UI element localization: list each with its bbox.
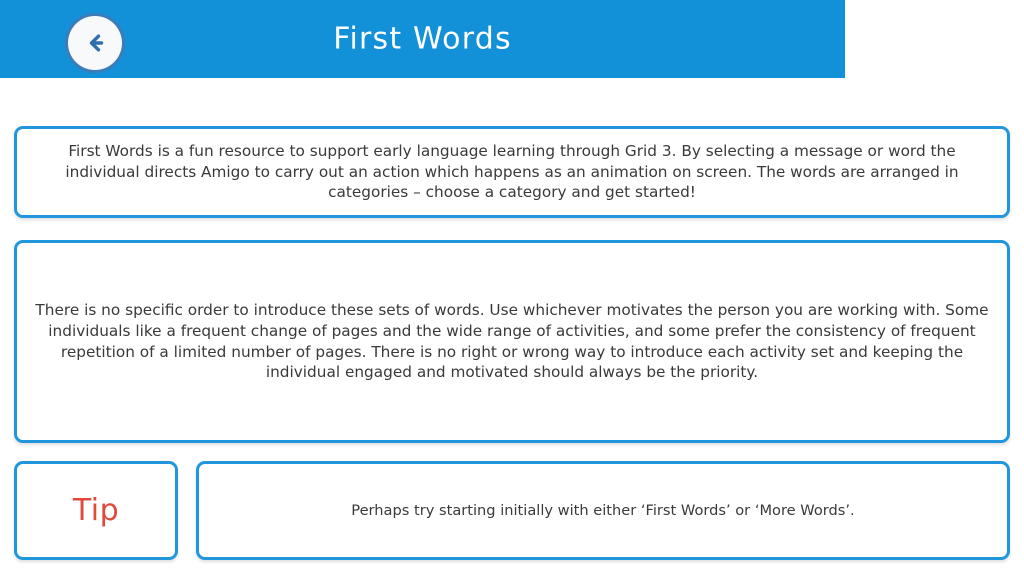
guidance-panel-text: There is no specific order to introduce … [17, 300, 1007, 383]
tip-label-panel: Tip [14, 461, 178, 560]
arrow-left-icon [80, 28, 110, 58]
guidance-panel: There is no specific order to introduce … [14, 240, 1010, 443]
app-header: First Words [0, 0, 845, 78]
back-button[interactable] [68, 16, 122, 70]
tip-body-text: Perhaps try starting initially with eith… [199, 501, 1007, 521]
tip-body-panel: Perhaps try starting initially with eith… [196, 461, 1010, 560]
intro-panel: First Words is a fun resource to support… [14, 126, 1010, 218]
page-title: First Words [0, 22, 845, 57]
intro-panel-text: First Words is a fun resource to support… [17, 141, 1007, 203]
tip-label-text: Tip [73, 493, 119, 528]
